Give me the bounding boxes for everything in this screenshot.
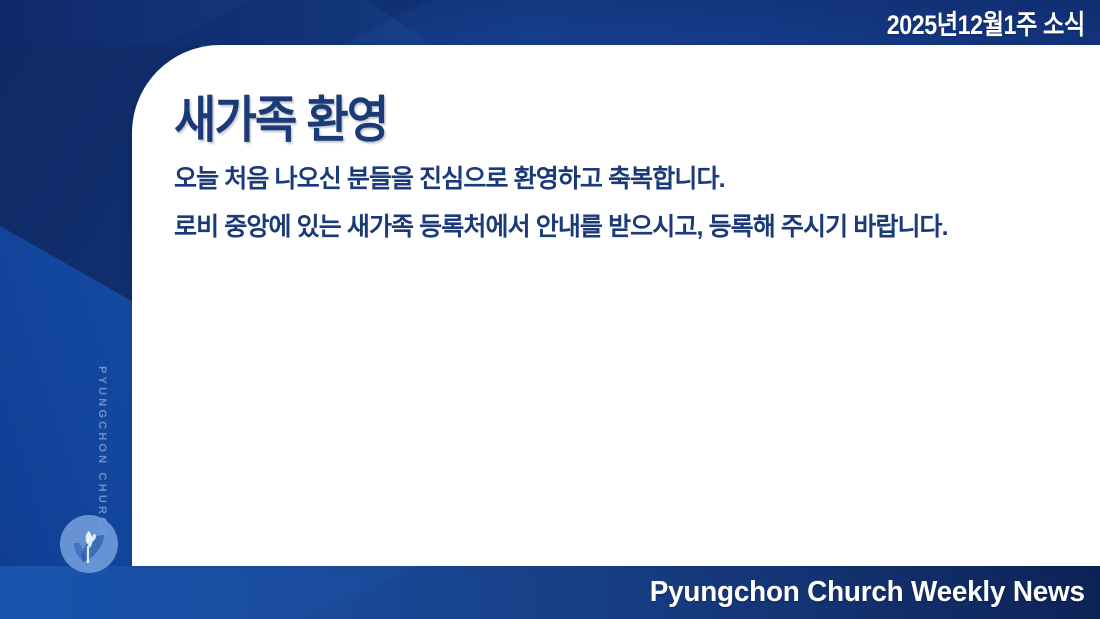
header-date-label: 2025년12월1주 소식 bbox=[886, 3, 1100, 42]
body-line-2: 로비 중앙에 있는 새가족 등록처에서 안내를 받으시고, 등록해 주시기 바랍… bbox=[174, 203, 1070, 251]
header-band: 2025년12월1주 소식 bbox=[0, 0, 1100, 45]
slide-root: 2025년12월1주 소식 새가족 환영 오늘 처음 나오신 분들을 진심으로 … bbox=[0, 0, 1100, 619]
footer-title: Pyungchon Church Weekly News bbox=[650, 576, 1100, 609]
page-title: 새가족 환영 bbox=[174, 80, 387, 152]
content-panel: 새가족 환영 오늘 처음 나오신 분들을 진심으로 환영하고 축복합니다. 로비… bbox=[132, 45, 1100, 566]
panel-body: 오늘 처음 나오신 분들을 진심으로 환영하고 축복합니다. 로비 중앙에 있는… bbox=[174, 155, 1070, 251]
church-flower-logo-icon bbox=[58, 513, 120, 575]
footer-band: Pyungchon Church Weekly News bbox=[0, 566, 1100, 619]
body-line-1: 오늘 처음 나오신 분들을 진심으로 환영하고 축복합니다. bbox=[174, 155, 1070, 203]
